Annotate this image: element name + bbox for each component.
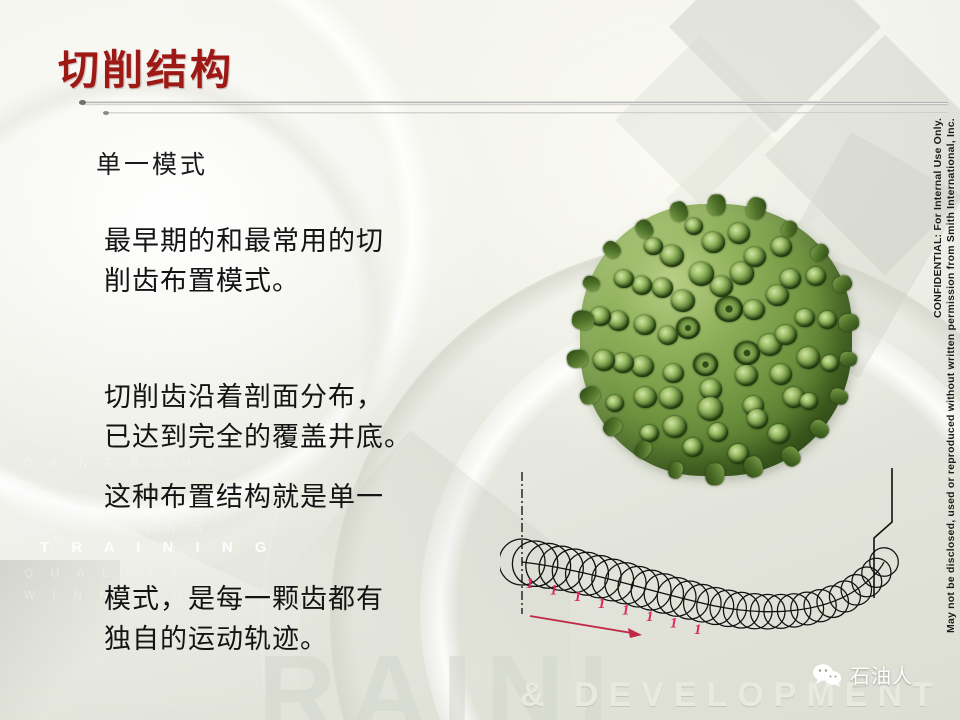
title-divider-line-2	[105, 112, 948, 114]
bit-tooth	[747, 409, 768, 429]
bit-tooth	[771, 237, 792, 257]
body-paragraph-3: 这种布置结构就是单一	[104, 478, 524, 518]
body-paragraph-1: 最早期的和最常用的切 削齿布置模式。	[104, 222, 504, 302]
bit-tooth	[768, 424, 790, 444]
bit-tooth	[715, 296, 743, 322]
bit-tooth	[693, 353, 718, 376]
cutting-profile-diagram: 11111111	[500, 466, 940, 656]
cutter-track-label: 1	[550, 583, 558, 599]
bit-tooth	[608, 311, 629, 331]
cutter-track-label: 1	[646, 609, 654, 625]
bit-tooth	[644, 238, 663, 256]
drill-bit-image	[566, 192, 866, 492]
bit-gauge-nub	[831, 273, 855, 295]
bit-gauge-nub	[839, 351, 858, 368]
bit-tooth	[743, 300, 765, 320]
title-divider-cap-1	[79, 100, 86, 105]
bit-tooth	[606, 395, 624, 412]
bit-tooth	[593, 350, 615, 370]
bit-tooth	[735, 365, 758, 386]
bit-gauge-nub	[708, 194, 726, 215]
bit-tooth	[797, 347, 820, 368]
bit-gauge-nub	[807, 417, 832, 442]
bit-tooth	[800, 393, 818, 410]
bit-gauge-nub	[808, 241, 832, 264]
bit-tooth	[708, 423, 728, 442]
bit-gauge-nub	[600, 414, 625, 439]
bit-tooth	[652, 278, 673, 298]
cutter-track-label: 1	[694, 622, 702, 638]
bit-tooth	[689, 262, 714, 285]
bit-tooth	[632, 276, 652, 295]
bit-gauge-nub	[581, 273, 603, 293]
bit-tooth	[676, 317, 700, 339]
bit-gauge-nub	[600, 238, 624, 261]
title-divider-cap-2	[103, 111, 109, 115]
bit-tooth	[821, 355, 839, 372]
bit-tooth	[698, 397, 723, 420]
track-label-group: 11111111	[526, 576, 702, 638]
cutter-track-label: 1	[598, 596, 606, 612]
wechat-icon	[812, 663, 842, 687]
bit-tooth	[683, 438, 703, 457]
bit-tooth	[659, 387, 683, 409]
bit-gauge-nub	[828, 386, 851, 407]
body-paragraph-4: 模式，是每一颗齿都有 独自的运动轨迹。	[104, 580, 524, 660]
background-diamond-2	[615, 35, 785, 205]
bit-tooth	[818, 311, 837, 329]
bit-tooth	[685, 218, 703, 235]
bit-tooth	[634, 315, 656, 335]
bit-tooth	[634, 387, 657, 408]
bit-gauge-nub	[577, 384, 602, 408]
bit-tooth	[702, 232, 725, 253]
bit-tooth	[744, 247, 766, 267]
bit-tooth	[663, 364, 684, 384]
bit-gauge-nub	[838, 313, 860, 333]
bit-tooth	[612, 353, 634, 373]
bit-tooth	[663, 416, 687, 438]
rotation-arrow	[530, 616, 642, 638]
bit-tooth	[775, 325, 797, 345]
cutter-track-label: 1	[670, 616, 678, 632]
bit-tooth	[614, 270, 634, 289]
bit-gauge-nub	[744, 196, 768, 222]
bit-tooth	[806, 267, 826, 286]
bit-tooth	[710, 276, 733, 297]
bit-tooth	[795, 309, 815, 328]
cutter-track-circles	[500, 539, 898, 629]
bit-tooth	[631, 356, 654, 377]
cutter-track-label: 1	[574, 589, 582, 605]
page-title: 切削结构	[58, 36, 234, 96]
wechat-label: 石油人	[850, 660, 913, 689]
slide-canvas: RAINI & DEVELOPMENT O W N E R S H I P V …	[0, 0, 960, 720]
bit-tooth	[770, 364, 792, 384]
bit-tooth	[658, 326, 678, 345]
wechat-badge[interactable]: 石油人	[812, 660, 913, 689]
cutter-track-label: 1	[526, 576, 534, 592]
watermark-training-small: T R A I N I N G	[40, 539, 276, 556]
title-divider-line-1	[82, 101, 948, 104]
bit-tooth	[728, 223, 750, 243]
bit-tooth	[671, 290, 695, 312]
bit-tooth	[660, 245, 684, 267]
bit-tooth	[780, 269, 801, 289]
bit-tooth	[734, 341, 760, 365]
subtitle: 单一模式	[96, 145, 208, 181]
cutter-track-label: 1	[622, 602, 630, 618]
drill-bit-teeth-layer	[566, 192, 866, 492]
profile-svg: 11111111	[500, 466, 940, 656]
bit-gauge-nub	[566, 348, 589, 369]
bit-gauge-nub	[570, 309, 595, 331]
body-paragraph-2: 切削齿沿着剖面分布， 已达到完全的覆盖井底。	[104, 378, 524, 458]
